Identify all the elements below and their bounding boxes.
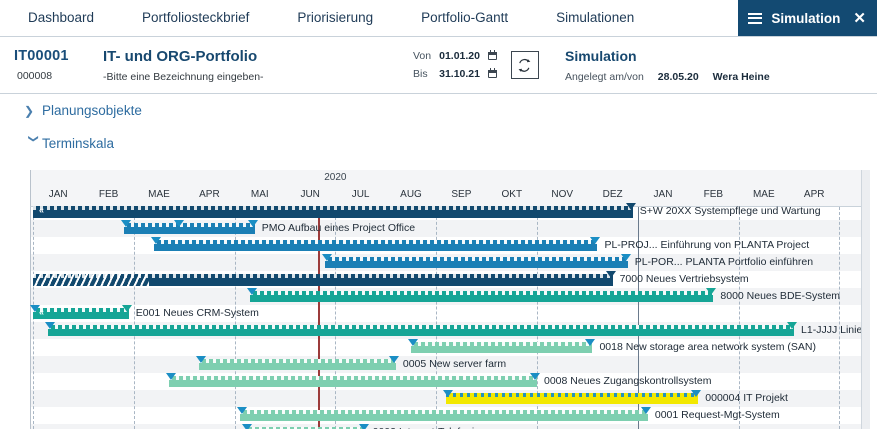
vertical-scrollbar[interactable] xyxy=(861,170,870,429)
gantt-chart[interactable]: 2020JANFEBMAEAPRMAIJUNJULAUGSEPOKTNOVDEZ… xyxy=(30,170,870,429)
gantt-month-label: MAE xyxy=(135,189,183,200)
gantt-bar-progress-dots xyxy=(199,359,396,363)
gantt-start-marker xyxy=(121,220,131,227)
gantt-year-label: 2020 xyxy=(310,172,360,183)
gantt-bar-collapse-chevrons[interactable]: « xyxy=(39,205,43,215)
gantt-start-marker xyxy=(45,322,55,329)
nav-tab-portfoliosteckbrief[interactable]: Portfoliosteckbrief xyxy=(130,0,285,36)
close-icon[interactable]: ✕ xyxy=(853,9,866,27)
gantt-month-label: OKT xyxy=(488,189,536,200)
gantt-bar[interactable]: « xyxy=(33,206,633,218)
gantt-bar[interactable] xyxy=(124,223,255,234)
gantt-start-marker xyxy=(247,288,257,295)
gantt-bar-label: PL-POR... PLANTA Portfolio einführen xyxy=(635,256,813,268)
gantt-bar[interactable] xyxy=(250,291,714,302)
gantt-month-label: MAE xyxy=(740,189,788,200)
gantt-bar-progress-dots xyxy=(250,291,714,295)
top-navigation-bar: Dashboard Portfoliosteckbrief Priorisier… xyxy=(0,0,877,37)
gantt-start-marker xyxy=(322,254,332,261)
gantt-bar-progress-dots xyxy=(325,257,627,261)
nav-tab-list: Dashboard Portfoliosteckbrief Priorisier… xyxy=(0,0,738,36)
gantt-start-marker xyxy=(237,407,247,414)
gantt-timescale-header: 2020JANFEBMAEAPRMAIJUNJULAUGSEPOKTNOVDEZ… xyxy=(30,170,870,207)
gantt-bar-label: PMO Aufbau eines Project Office xyxy=(262,222,415,234)
portfolio-header: IT00001 000008 IT- und ORG-Portfolio -Bi… xyxy=(0,37,877,94)
gantt-month-label: DEZ xyxy=(589,189,637,200)
portfolio-id: IT00001 xyxy=(14,48,103,64)
section-label: Planungsobjekte xyxy=(42,103,142,118)
gantt-bar-progress-dots xyxy=(33,308,129,312)
section-label: Terminskala xyxy=(42,136,114,151)
gantt-bar[interactable] xyxy=(446,393,698,404)
gantt-month-label: FEB xyxy=(85,189,133,200)
gantt-end-marker xyxy=(590,237,600,244)
simulation-meta: Angelegt am/von 28.05.20 Wera Heine xyxy=(565,71,770,83)
gantt-bar[interactable] xyxy=(33,274,613,286)
created-label: Angelegt am/von xyxy=(565,71,644,83)
gantt-start-marker xyxy=(242,424,252,429)
chevron-right-icon[interactable]: ❯ xyxy=(24,104,42,118)
gantt-bar-label: 0018 New storage area network system (SA… xyxy=(599,341,816,353)
gantt-start-marker xyxy=(151,237,161,244)
gantt-bar-progress-dots xyxy=(124,223,255,227)
gantt-start-marker xyxy=(166,373,176,380)
gantt-bar-progress-dots xyxy=(154,240,598,244)
gantt-end-marker xyxy=(530,373,540,380)
gantt-bar-label: L1-JJJJ Linientätigkeiten JJJJ xyxy=(801,324,870,336)
gantt-gridline xyxy=(839,207,841,429)
gantt-bar-progress-dots xyxy=(169,376,537,380)
gantt-end-marker xyxy=(691,390,701,397)
gantt-bar[interactable] xyxy=(154,240,598,251)
nav-tab-dashboard[interactable]: Dashboard xyxy=(18,0,130,36)
gantt-start-marker xyxy=(30,305,40,312)
active-tab-label: Simulation xyxy=(771,11,840,26)
gantt-bar[interactable] xyxy=(325,257,627,268)
gantt-month-label: AUG xyxy=(387,189,435,200)
gantt-end-marker xyxy=(606,271,616,278)
gantt-end-marker xyxy=(389,356,399,363)
refresh-sync-icon[interactable] xyxy=(511,51,539,79)
gantt-bar-label: S+W 20XX Systempflege und Wartung xyxy=(640,205,821,217)
nav-tab-simulation-active[interactable]: Simulation ✕ xyxy=(738,0,877,36)
gantt-bar[interactable] xyxy=(48,325,794,336)
gantt-bar-label: 0005 New server farm xyxy=(403,358,506,370)
gantt-end-marker xyxy=(585,339,595,346)
gantt-month-label: APR xyxy=(790,189,838,200)
gantt-end-marker xyxy=(122,305,132,312)
bis-label: Bis xyxy=(413,68,431,80)
gantt-end-marker xyxy=(621,254,631,261)
gantt-bar[interactable] xyxy=(199,359,396,370)
gantt-milestone-marker xyxy=(174,220,184,227)
gantt-month-label: SEP xyxy=(437,189,485,200)
gantt-start-marker xyxy=(408,339,418,346)
gantt-bar-label: 0001 Request-Mgt-System xyxy=(655,409,780,421)
gantt-end-marker xyxy=(248,220,258,227)
gantt-bar-label: 7000 Neues Vertriebsystem xyxy=(620,273,749,285)
gantt-bar-progress-dots xyxy=(411,342,592,346)
gantt-bar-label: 0008 Neues Zugangskontrollsystem xyxy=(544,375,712,387)
simulation-title: Simulation xyxy=(565,48,770,64)
von-value[interactable]: 01.01.20 xyxy=(439,50,480,62)
portfolio-id-block: IT00001 000008 xyxy=(14,48,103,82)
calendar-icon[interactable] xyxy=(488,68,499,80)
gantt-month-label: JAN xyxy=(34,189,82,200)
gantt-bar-progress-dots xyxy=(240,410,648,414)
date-range-block: Von 01.01.20 Bis 31.10.21 xyxy=(413,50,499,80)
von-label: Von xyxy=(413,50,431,62)
section-terminskala[interactable]: ❯ Terminskala xyxy=(0,127,877,160)
gantt-bar-label: 8000 Neues BDE-System xyxy=(720,290,840,302)
portfolio-description-placeholder[interactable]: -Bitte eine Bezeichnung eingeben- xyxy=(103,71,413,83)
gantt-bar[interactable]: « xyxy=(33,308,129,319)
gantt-end-marker xyxy=(787,322,797,329)
gantt-month-label: APR xyxy=(185,189,233,200)
gantt-bar[interactable] xyxy=(240,410,648,421)
created-date: 28.05.20 xyxy=(658,71,699,83)
calendar-icon[interactable] xyxy=(488,50,499,62)
gantt-end-marker xyxy=(359,424,369,429)
gantt-bar[interactable] xyxy=(169,376,537,387)
gantt-month-label: JUN xyxy=(286,189,334,200)
hamburger-icon[interactable] xyxy=(748,13,762,24)
portfolio-name: IT- und ORG-Portfolio xyxy=(103,48,413,65)
gantt-start-marker xyxy=(443,390,453,397)
gantt-bar-label: PL-PROJ... Einführung von PLANTA Project xyxy=(604,239,809,251)
gantt-month-label: JUL xyxy=(337,189,385,200)
nav-tab-portfolio-gantt[interactable]: Portfolio-Gantt xyxy=(409,0,544,36)
gantt-month-label: JAN xyxy=(639,189,687,200)
gantt-bar-progress-dots xyxy=(48,325,794,329)
gantt-month-label: FEB xyxy=(689,189,737,200)
nav-tab-priorisierung[interactable]: Priorisierung xyxy=(285,0,409,36)
portfolio-name-block: IT- und ORG-Portfolio -Bitte eine Bezeic… xyxy=(103,48,413,83)
chevron-down-icon[interactable]: ❯ xyxy=(28,135,39,153)
section-planungsobjekte[interactable]: ❯ Planungsobjekte xyxy=(0,94,877,127)
gantt-bar-label: E001 Neues CRM-System xyxy=(136,307,259,319)
gantt-bar-progress-dots xyxy=(33,274,613,278)
bis-value[interactable]: 31.10.21 xyxy=(439,68,480,80)
gantt-rows-container[interactable]: «S+W 20XX Systempflege und WartungPMO Au… xyxy=(30,207,870,429)
sync-arrows-icon xyxy=(516,57,533,74)
created-by: Wera Heine xyxy=(713,71,770,83)
gantt-bar-label: 000004 IT Projekt xyxy=(705,392,788,404)
gantt-bar-progress-dots xyxy=(446,393,698,397)
gantt-bar-progress-dots xyxy=(33,206,633,210)
gantt-start-marker xyxy=(196,356,206,363)
gantt-month-label: NOV xyxy=(538,189,586,200)
gantt-bar[interactable] xyxy=(411,342,592,353)
gantt-end-marker xyxy=(706,288,716,295)
gantt-end-marker xyxy=(626,203,636,210)
nav-tab-simulationen[interactable]: Simulationen xyxy=(544,0,670,36)
portfolio-number: 000008 xyxy=(14,70,103,82)
gantt-end-marker xyxy=(641,407,651,414)
simulation-info-block: Simulation Angelegt am/von 28.05.20 Wera… xyxy=(565,48,770,83)
gantt-month-label: MAI xyxy=(236,189,284,200)
